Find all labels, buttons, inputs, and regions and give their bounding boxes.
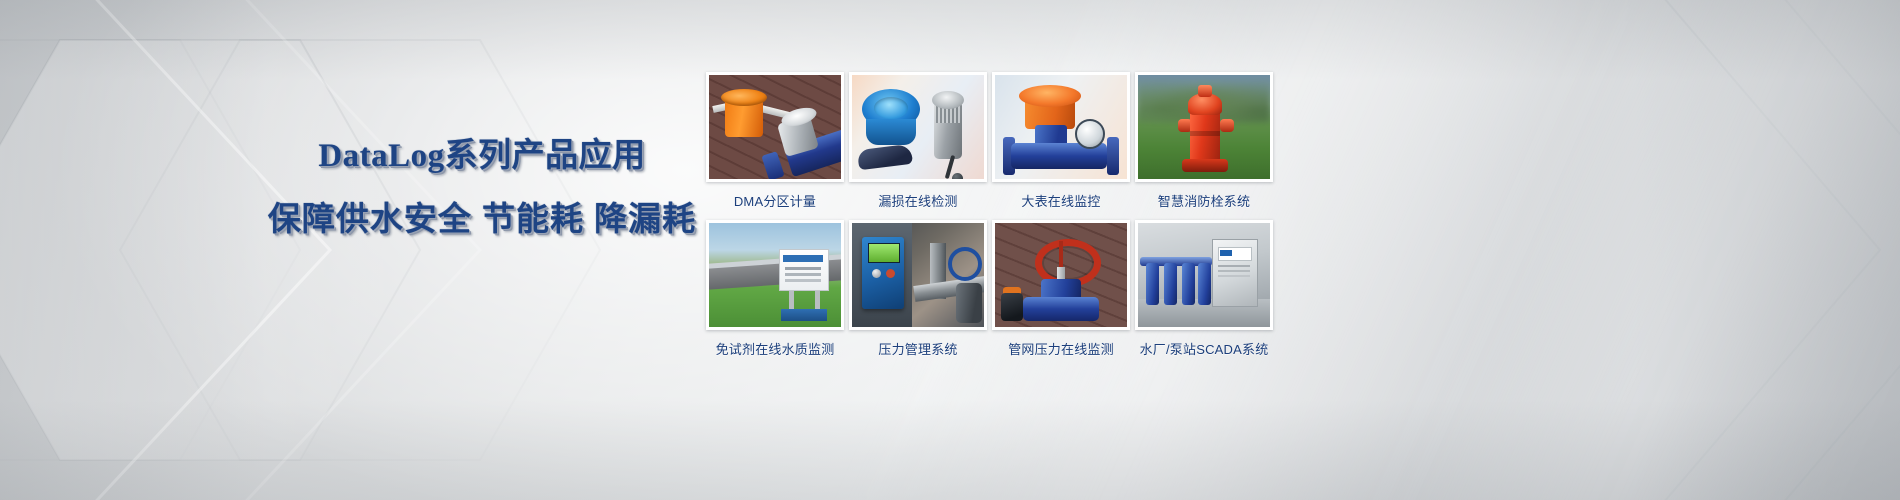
product-card-pressure-management[interactable]: 压力管理系统 (849, 220, 987, 365)
leak-logger-photo[interactable] (849, 72, 987, 182)
light-sheen-right (1355, 0, 1900, 500)
product-application-banner: DataLog系列产品应用 保障供水安全 节能耗 降漏耗 DMA分区计量 (0, 0, 1900, 500)
headline-line-1: DataLog系列产品应用 (262, 140, 702, 173)
banner-headline: DataLog系列产品应用 保障供水安全 节能耗 降漏耗 (262, 140, 702, 235)
dma-metering-chamber-photo[interactable] (706, 72, 844, 182)
product-caption: 漏损在线检测 (878, 191, 957, 210)
scada-pump-station-photo[interactable] (1135, 220, 1273, 330)
product-card-network-pressure[interactable]: 管网压力在线监测 (992, 220, 1130, 365)
product-card-large-meter[interactable]: 大表在线监控 (992, 72, 1130, 217)
product-caption: 免试剂在线水质监测 (716, 339, 835, 358)
large-water-meter-photo[interactable] (992, 72, 1130, 182)
product-card-scada[interactable]: 水厂/泵站SCADA系统 (1135, 220, 1273, 365)
product-caption: 大表在线监控 (1021, 191, 1100, 210)
headline-line-2: 保障供水安全 节能耗 降漏耗 (262, 202, 702, 235)
product-caption: 管网压力在线监测 (1008, 339, 1114, 358)
network-pressure-valve-photo[interactable] (992, 220, 1130, 330)
water-quality-station-photo[interactable] (706, 220, 844, 330)
smart-fire-hydrant-photo[interactable] (1135, 72, 1273, 182)
product-card-dma-metering[interactable]: DMA分区计量 (706, 72, 844, 217)
product-caption: DMA分区计量 (734, 191, 816, 210)
product-caption: 智慧消防栓系统 (1158, 191, 1250, 210)
product-card-leak-detection[interactable]: 漏损在线检测 (849, 72, 987, 217)
product-caption: 压力管理系统 (878, 339, 957, 358)
pressure-management-panel-photo[interactable] (849, 220, 987, 330)
product-application-grid: DMA分区计量 漏损在线检测 (706, 72, 1273, 365)
product-caption: 水厂/泵站SCADA系统 (1140, 339, 1269, 358)
product-card-smart-hydrant[interactable]: 智慧消防栓系统 (1135, 72, 1273, 217)
product-card-water-quality[interactable]: 免试剂在线水质监测 (706, 220, 844, 365)
